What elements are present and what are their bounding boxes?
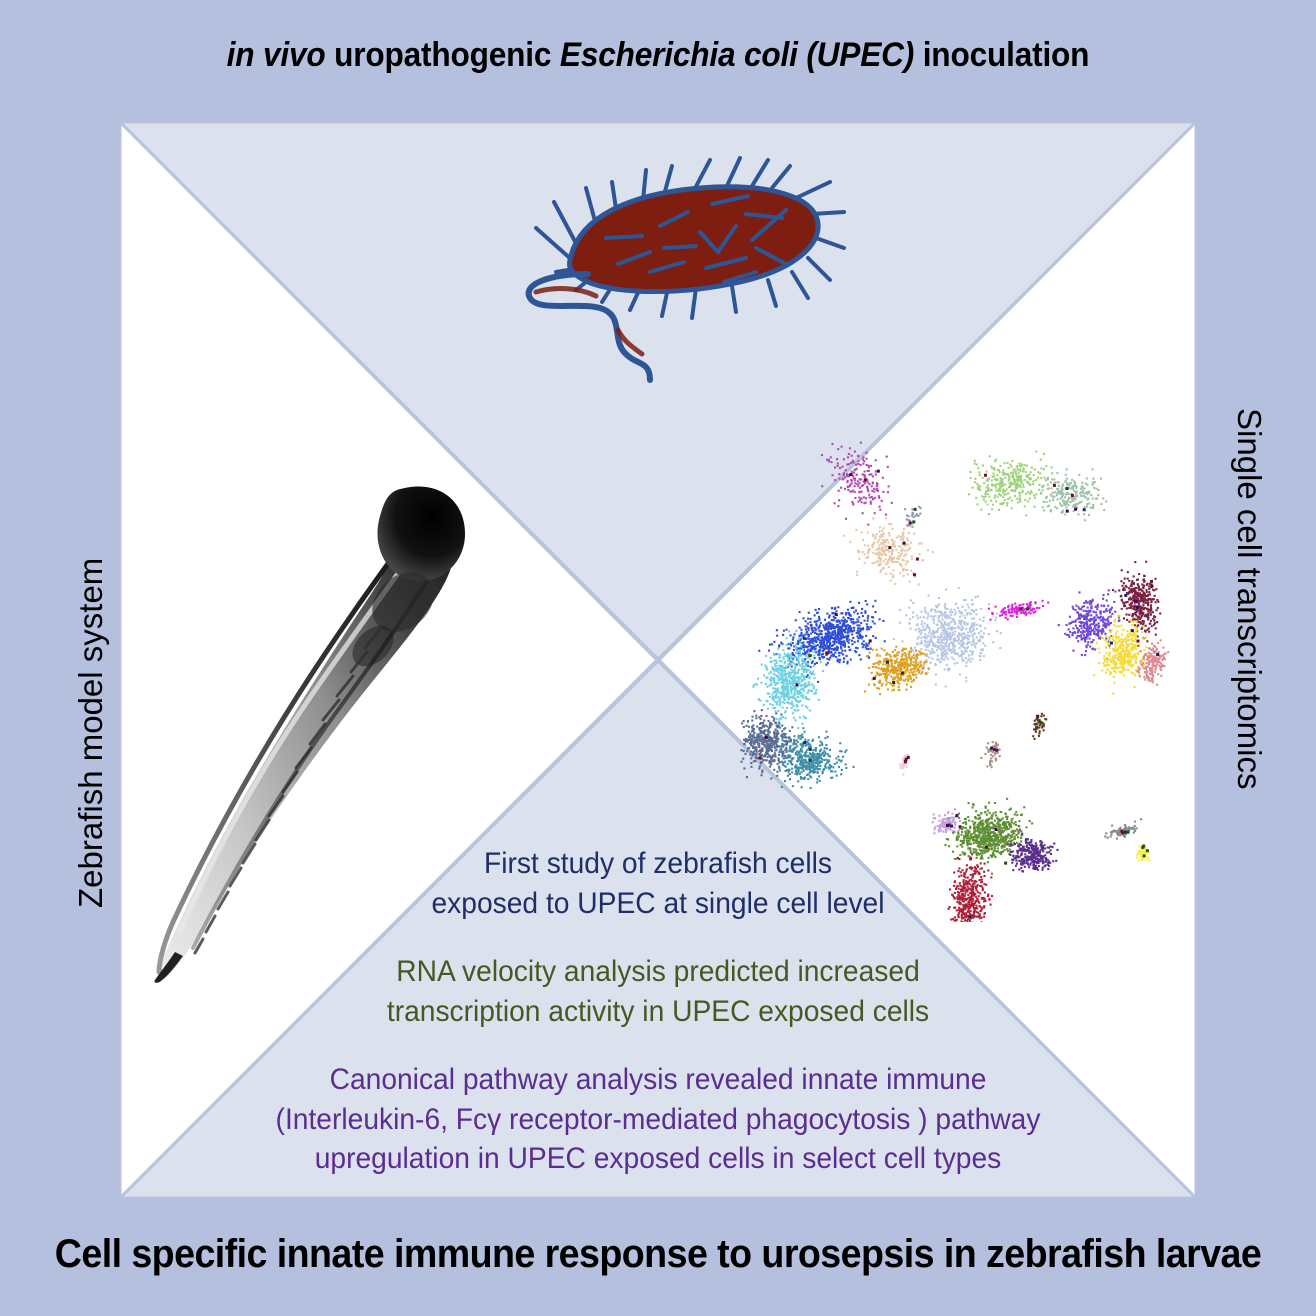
umap-cluster-rosy-brown-speck <box>980 741 1001 768</box>
finding-2-line-2: transcription activity in UPEC exposed c… <box>152 992 1163 1032</box>
umap-cluster-orchid-cluster <box>821 442 893 526</box>
finding-1-line-1: First study of zebrafish cells <box>152 844 1163 884</box>
finding-2-line-1: RNA velocity analysis predicted increase… <box>152 952 1163 992</box>
top-title-in-vivo: in vivo <box>227 36 326 74</box>
finding-3-line-2: (Interleukin-6, Fcγ receptor-mediated ph… <box>152 1100 1163 1140</box>
top-title-mid: uropathogenic <box>326 36 560 74</box>
finding-rna-velocity: RNA velocity analysis predicted increase… <box>152 952 1163 1031</box>
right-side-label: Single cell transcriptomics <box>1230 408 1268 789</box>
umap-cluster-light-green-cluster <box>968 450 1056 516</box>
top-title-species: Escherichia coli (UPEC) <box>560 36 914 74</box>
umap-cluster-amber-cluster <box>864 646 929 695</box>
umap-cluster-maroon-cluster <box>1112 561 1161 647</box>
finding-3-line-1: Canonical pathway analysis revealed inna… <box>152 1060 1163 1100</box>
umap-cluster-gray-strip-right <box>1104 818 1142 839</box>
top-title: in vivo uropathogenic Escherichia coli (… <box>46 36 1270 75</box>
umap-cluster-tan-cluster <box>843 517 934 585</box>
finding-1-line-2: exposed to UPEC at single cell level <box>152 884 1163 924</box>
finding-canonical-pathway: Canonical pathway analysis revealed inna… <box>152 1060 1163 1179</box>
umap-cluster-brown-speck <box>1032 713 1047 740</box>
bottom-title: Cell specific innate immune response to … <box>39 1232 1276 1277</box>
main-panel: First study of zebrafish cells exposed t… <box>120 122 1196 1198</box>
umap-cluster-violet-cluster <box>1058 589 1121 660</box>
umap-cluster-sage-green-cluster <box>1040 466 1107 521</box>
finding-single-cell-first-study: First study of zebrafish cells exposed t… <box>152 844 1163 923</box>
graphical-abstract: in vivo uropathogenic Escherichia coli (… <box>0 0 1316 1316</box>
umap-cluster-yellow-cluster <box>1093 614 1147 694</box>
left-side-label: Zebrafish model system <box>72 558 110 908</box>
umap-cluster-light-orchid-cluster <box>932 808 961 834</box>
umap-cluster-gray-speck-top <box>904 506 922 528</box>
larva-head <box>377 487 465 581</box>
top-title-post: inoculation <box>914 36 1089 74</box>
finding-3-line-3: upregulation in UPEC exposed cells in se… <box>152 1139 1163 1179</box>
